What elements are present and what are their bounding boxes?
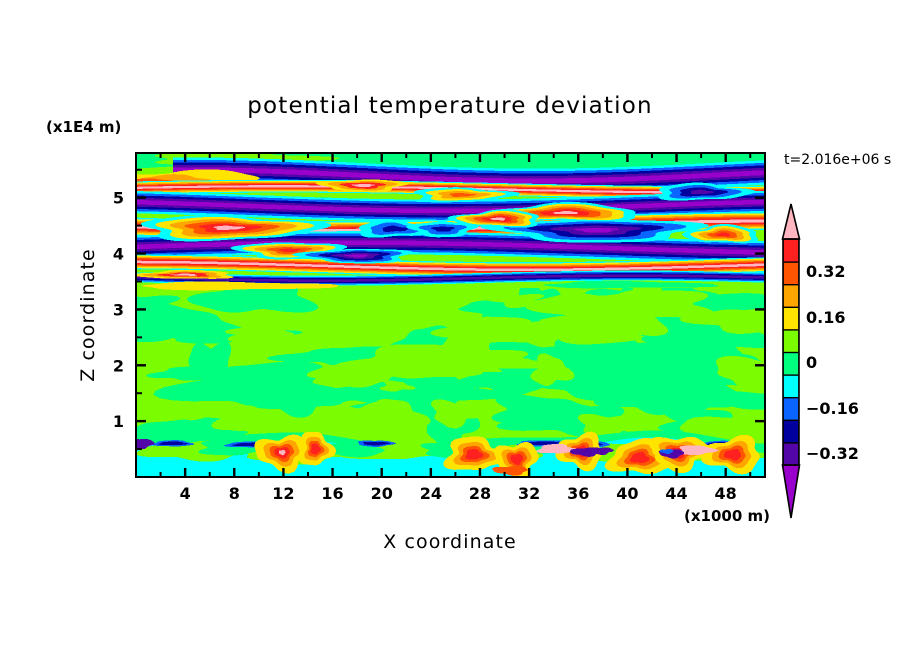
- colorbar-band: [783, 329, 799, 352]
- colorbar-tick-label: −0.32: [806, 444, 859, 463]
- x-tick-label: 40: [616, 484, 638, 503]
- x-axis-title: X coordinate: [383, 531, 517, 553]
- y-tick-label: 1: [113, 412, 124, 431]
- x-tick-label: 24: [420, 484, 442, 503]
- y-tick-label: 5: [113, 189, 124, 208]
- time-annotation: t=2.016e+06 s: [784, 152, 891, 168]
- x-tick-label: 16: [321, 484, 343, 503]
- x-tick-label: 12: [272, 484, 294, 503]
- colorbar-band: [783, 239, 799, 262]
- plot-title: potential temperature deviation: [247, 93, 653, 119]
- x-tick-label: 4: [180, 484, 191, 503]
- x-tick-label: 28: [469, 484, 491, 503]
- colorbar-band: [783, 307, 799, 330]
- contour-field: [91, 151, 833, 480]
- y-axis-title: Z coordinate: [77, 248, 99, 382]
- y-tick-label: 4: [113, 245, 124, 264]
- colorbar-band: [783, 352, 799, 375]
- x-tick-label: 32: [518, 484, 540, 503]
- colorbar-band: [783, 397, 799, 420]
- colorbar-tick-label: 0.16: [806, 308, 845, 327]
- x-tick-label: 8: [229, 484, 240, 503]
- colorbar-tick-label: −0.16: [806, 399, 859, 418]
- colorbar-band: [783, 262, 799, 285]
- contour-plot-figure: potential temperature deviation (x1E4 m)…: [0, 0, 904, 654]
- x-tick-label: 36: [567, 484, 589, 503]
- y-tick-label: 2: [113, 356, 124, 375]
- colorbar-band: [783, 284, 799, 307]
- x-tick-label: 20: [371, 484, 393, 503]
- x-tick-label: 44: [665, 484, 687, 503]
- colorbar-band: [783, 375, 799, 398]
- y-axis-unit-label: (x1E4 m): [46, 118, 121, 136]
- y-tick-label: 3: [113, 300, 124, 319]
- x-axis-unit-label: (x1000 m): [684, 507, 770, 525]
- colorbar-tick-label: 0: [806, 353, 817, 372]
- colorbar-tick-label: 0.32: [806, 262, 845, 281]
- x-tick-label: 48: [715, 484, 737, 503]
- colorbar-band: [783, 442, 799, 465]
- colorbar-band: [783, 420, 799, 443]
